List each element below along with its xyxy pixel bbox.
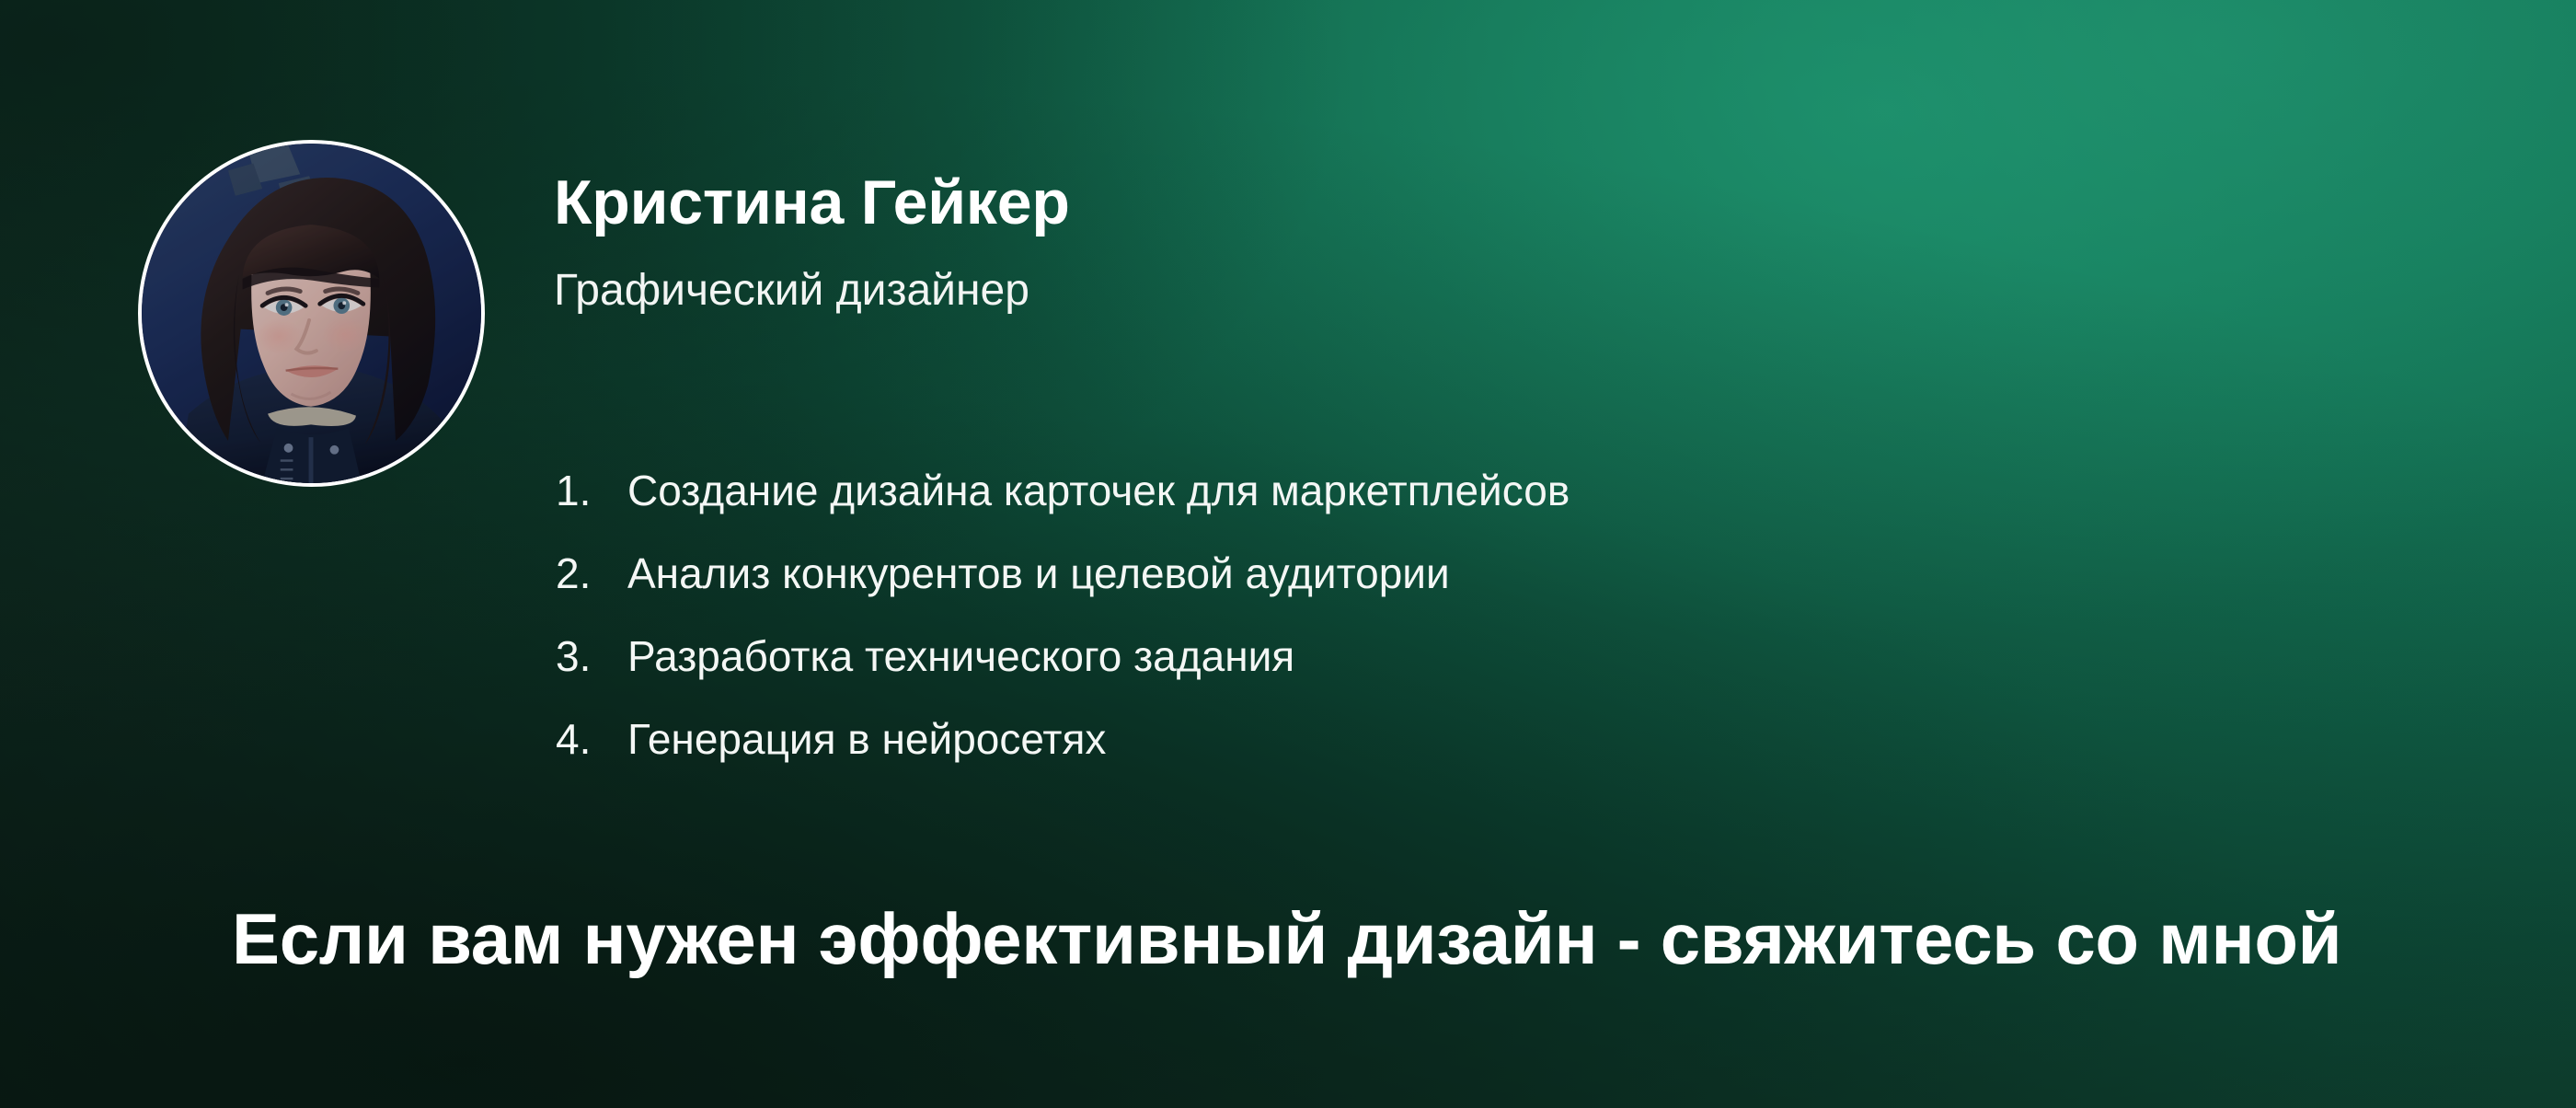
list-item-label: Создание дизайна карточек для маркетплей… <box>627 465 1570 516</box>
list-item: 2. Анализ конкурентов и целевой аудитори… <box>556 548 1570 630</box>
list-item-number: 3. <box>556 630 627 682</box>
list-item-label: Генерация в нейросетях <box>627 713 1106 765</box>
profile-role: Графический дизайнер <box>554 267 1029 316</box>
list-item: 3. Разработка технического задания <box>556 630 1570 713</box>
list-item-number: 4. <box>556 713 627 765</box>
banner-canvas: Кристина Гейкер Графический дизайнер 1. … <box>0 0 2576 1108</box>
page-title: Кристина Гейкер <box>554 170 1070 236</box>
list-item: 4. Генерация в нейросетях <box>556 713 1570 796</box>
list-item-number: 2. <box>556 548 627 599</box>
call-to-action-text: Если вам нужен эффективный дизайн - свяж… <box>232 900 2341 979</box>
list-item: 1. Создание дизайна карточек для маркетп… <box>556 465 1570 548</box>
list-item-label: Анализ конкурентов и целевой аудитории <box>627 548 1450 599</box>
portrait-photo-icon <box>142 144 481 483</box>
services-list: 1. Создание дизайна карточек для маркетп… <box>556 465 1570 796</box>
avatar <box>138 140 485 487</box>
list-item-label: Разработка технического задания <box>627 630 1294 682</box>
list-item-number: 1. <box>556 465 627 516</box>
